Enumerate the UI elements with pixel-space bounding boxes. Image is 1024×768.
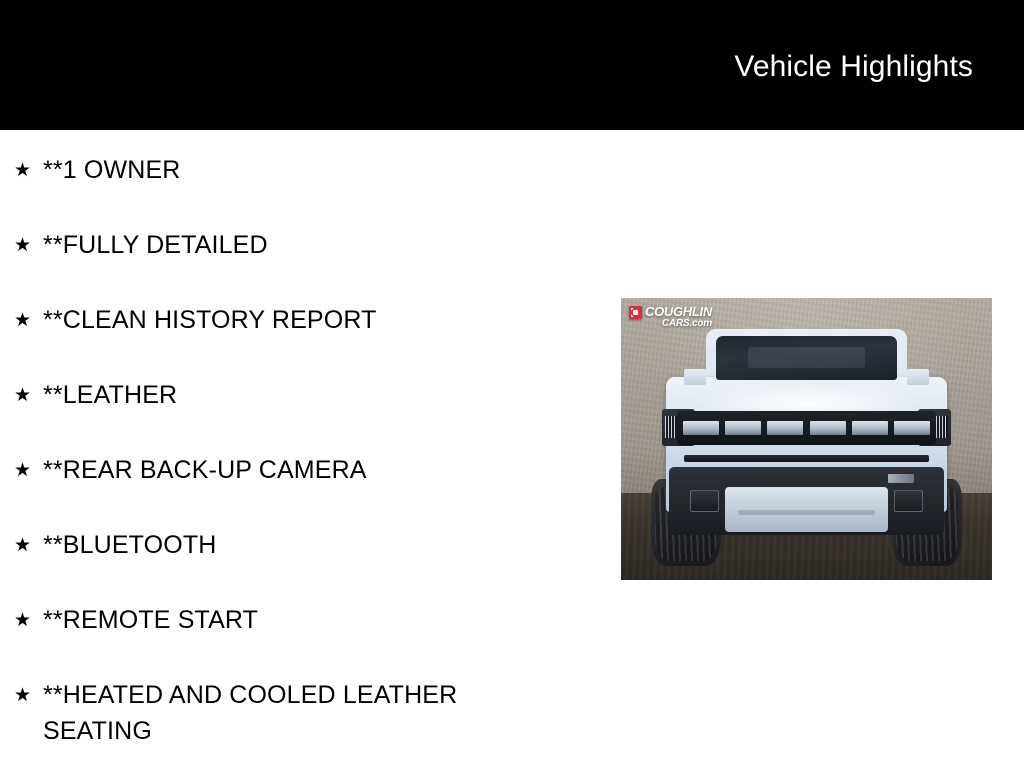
header-bar: Vehicle Highlights (0, 0, 1024, 130)
list-item-label: **1 OWNER (43, 130, 620, 188)
grille-light-bar (852, 421, 888, 435)
list-item-label: **BLUETOOTH (43, 505, 620, 563)
watermark-line-2: CARS.com (645, 319, 712, 329)
grille-light-bar (767, 421, 803, 435)
list-item-label: **REMOTE START (43, 580, 620, 638)
lower-trim (684, 455, 929, 462)
list-item: ★ **REMOTE START (0, 580, 620, 655)
list-item: ★ **BLUETOOTH (0, 505, 620, 580)
list-item-label: **FULLY DETAILED (43, 205, 620, 263)
star-bullet-icon: ★ (14, 430, 43, 486)
list-item: ★ **HEATED AND COOLED LEATHER SEATING (0, 655, 620, 749)
list-item-label: **HEATED AND COOLED LEATHER SEATING (43, 655, 620, 749)
list-item: ★ **FULLY DETAILED (0, 205, 620, 280)
star-bullet-icon: ★ (14, 205, 43, 261)
list-item-label: **LEATHER (43, 355, 620, 413)
grille-light-bar (810, 421, 846, 435)
star-bullet-icon: ★ (14, 580, 43, 636)
coughlin-logo-icon (629, 306, 642, 319)
vehicle-photo: COUGHLIN CARS.com (621, 298, 992, 580)
truck-illustration (621, 298, 992, 580)
grille-light-bar (725, 421, 761, 435)
list-item: ★ **CLEAN HISTORY REPORT (0, 280, 620, 355)
list-item: ★ **LEATHER (0, 355, 620, 430)
star-bullet-icon: ★ (14, 505, 43, 561)
vehicle-highlights-list: ★ **1 OWNER ★ **FULLY DETAILED ★ **CLEAN… (0, 130, 620, 749)
list-item: ★ **1 OWNER (0, 130, 620, 205)
front-grille (677, 411, 937, 445)
windshield (716, 336, 898, 380)
right-mirror (907, 369, 929, 386)
watermark-line-1: COUGHLIN (645, 305, 712, 318)
list-item-label: **REAR BACK-UP CAMERA (43, 430, 620, 488)
left-mirror (684, 369, 706, 386)
list-item-label: **CLEAN HISTORY REPORT (43, 280, 620, 338)
dealer-watermark: COUGHLIN CARS.com (629, 305, 712, 329)
page-title: Vehicle Highlights (734, 49, 973, 85)
watermark-text: COUGHLIN CARS.com (645, 305, 712, 329)
list-item: ★ **REAR BACK-UP CAMERA (0, 430, 620, 505)
grille-light-bar (894, 421, 930, 435)
grille-light-bar (683, 421, 719, 435)
skid-plate (725, 487, 888, 532)
star-bullet-icon: ★ (14, 280, 43, 336)
left-tow-hook (690, 490, 720, 513)
gmc-badge (888, 474, 914, 482)
star-bullet-icon: ★ (14, 655, 43, 711)
star-bullet-icon: ★ (14, 130, 43, 186)
right-tow-hook (894, 490, 924, 513)
star-bullet-icon: ★ (14, 355, 43, 411)
